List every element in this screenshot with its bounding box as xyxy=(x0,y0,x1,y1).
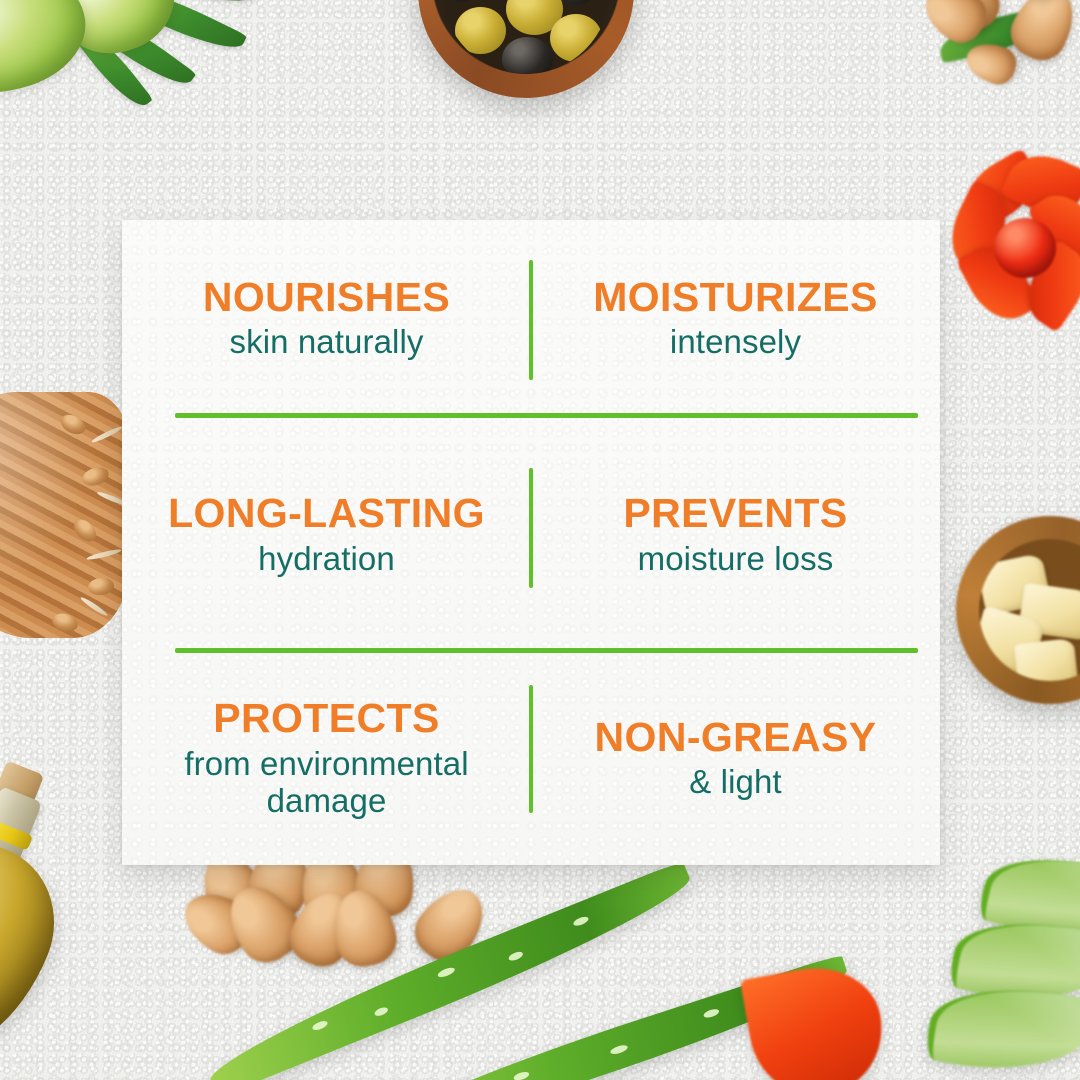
black-olive-icon xyxy=(502,37,553,74)
black-olive-icon xyxy=(442,0,484,2)
benefits-row: PROTECTS from environmental damage NON-G… xyxy=(122,653,940,865)
vertical-divider xyxy=(529,685,533,813)
bowl-interior xyxy=(979,539,1080,682)
green-olive-icon xyxy=(550,14,602,63)
shea-butter-chunk xyxy=(1013,638,1077,681)
benefit-heading: LONG-LASTING xyxy=(136,493,517,535)
aloe-spot xyxy=(508,950,525,962)
benefit-subtext: from environmental damage xyxy=(136,746,517,820)
olive-bowl-prop xyxy=(418,0,634,98)
aloe-vera-leaves-prop xyxy=(300,900,800,1080)
green-olive-icon xyxy=(0,0,98,108)
vertical-divider xyxy=(529,260,533,380)
wooden-bowl-icon xyxy=(956,516,1080,704)
benefit-subtext: skin naturally xyxy=(136,324,517,361)
physalis-flower-prop xyxy=(952,160,1080,330)
benefit-heading: PREVENTS xyxy=(545,493,926,535)
vertical-divider xyxy=(529,468,533,588)
benefit-cell-long-lasting: LONG-LASTING hydration xyxy=(122,493,531,578)
benefit-cell-nourishes: NOURISHES skin naturally xyxy=(122,277,531,362)
benefits-row: LONG-LASTING hydration PREVENTS moisture… xyxy=(122,418,940,653)
benefit-subtext: hydration xyxy=(136,541,517,578)
aloe-spot xyxy=(703,1007,720,1019)
aloe-spot xyxy=(513,1071,530,1080)
benefit-heading: MOISTURIZES xyxy=(545,277,926,319)
benefit-heading: PROTECTS xyxy=(136,698,517,740)
wooden-bowl-icon xyxy=(418,0,634,98)
infographic-canvas: NOURISHES skin naturally MOISTURIZES int… xyxy=(0,0,1080,1080)
benefit-cell-moisturizes: MOISTURIZES intensely xyxy=(531,277,940,362)
aloe-slices-prop xyxy=(938,858,1080,1080)
benefits-card: NOURISHES skin naturally MOISTURIZES int… xyxy=(122,220,940,865)
benefit-subtext: moisture loss xyxy=(545,541,926,578)
benefit-cell-prevents: PREVENTS moisture loss xyxy=(531,493,940,578)
aloe-spot xyxy=(572,915,589,927)
aloe-spot xyxy=(436,966,455,979)
sprouted-wheat-prop xyxy=(0,392,136,642)
green-olives-with-leaves-prop xyxy=(0,0,260,162)
benefit-subtext: & light xyxy=(545,764,926,801)
benefits-grid: NOURISHES skin naturally MOISTURIZES int… xyxy=(122,220,940,865)
benefits-row: NOURISHES skin naturally MOISTURIZES int… xyxy=(122,220,940,418)
physalis-husk-icon xyxy=(740,957,892,1080)
bowl-interior xyxy=(442,0,611,74)
green-olive-icon xyxy=(455,7,506,54)
flower-berry-icon xyxy=(994,218,1056,278)
benefit-subtext: intensely xyxy=(545,324,926,361)
aloe-spot xyxy=(609,1044,628,1056)
physalis-husk-prop xyxy=(740,960,910,1080)
aloe-spot xyxy=(373,1006,389,1018)
oil-bottle-body xyxy=(0,817,78,1079)
benefit-heading: NOURISHES xyxy=(136,277,517,319)
benefit-cell-non-greasy: NON-GREASY & light xyxy=(531,717,940,802)
benefit-cell-protects: PROTECTS from environmental damage xyxy=(122,698,531,820)
benefit-heading: NON-GREASY xyxy=(545,717,926,759)
aloe-spot xyxy=(312,1019,329,1031)
almonds-with-leaf-prop xyxy=(920,0,1080,120)
shea-butter-bowl-prop xyxy=(956,516,1080,704)
